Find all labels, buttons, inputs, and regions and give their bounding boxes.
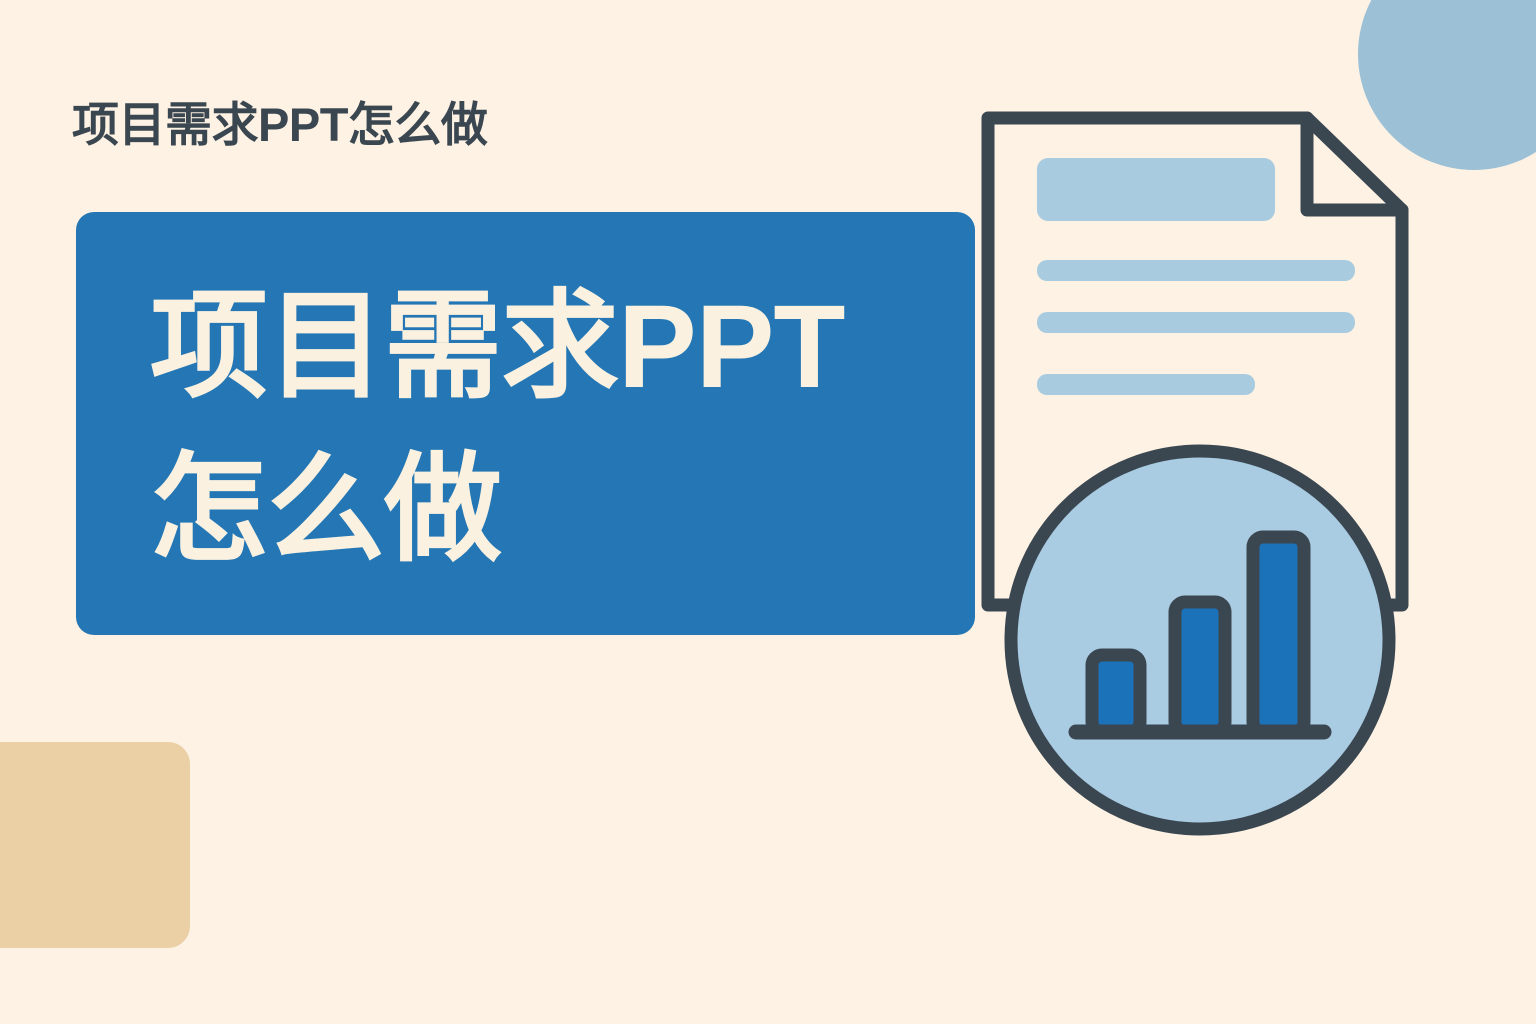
banner-title-line-2: 怎么做 [150, 429, 970, 592]
bar-chart-icon [1000, 440, 1400, 840]
banner-title: 项目需求PPT 怎么做 [150, 266, 970, 592]
decorative-rounded-rect-bottom-left [0, 742, 190, 948]
page-kicker-title: 项目需求PPT怎么做 [72, 86, 487, 155]
banner-title-line-1: 项目需求PPT [150, 266, 970, 429]
document-text-line-1 [1037, 260, 1355, 281]
title-banner: 项目需求PPT 怎么做 [76, 212, 975, 635]
bar-chart-badge [1000, 440, 1400, 840]
document-title-block [1037, 158, 1275, 221]
poster-canvas: 项目需求PPT怎么做 项目需求PPT 怎么做 [0, 0, 1536, 1024]
chart-bar-1 [1092, 655, 1140, 732]
chart-bar-3 [1253, 537, 1304, 732]
document-text-line-2 [1037, 312, 1355, 333]
document-text-line-3 [1037, 374, 1255, 395]
chart-bar-2 [1175, 602, 1225, 732]
